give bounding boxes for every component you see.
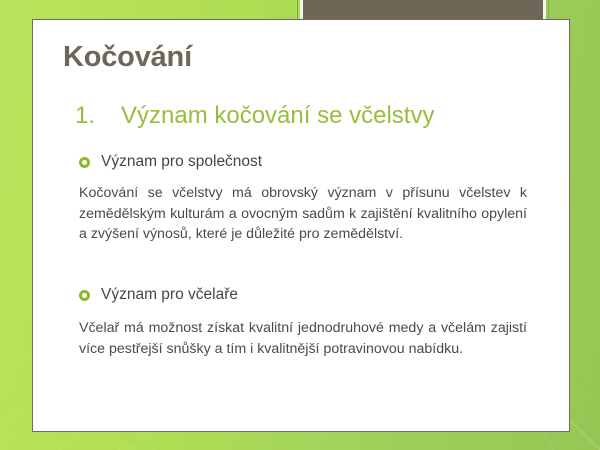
presentation-slide: Kočování 1.Význam kočování se včelstvy V… <box>0 0 600 450</box>
section-number: 1. <box>75 102 121 130</box>
body-paragraph: Včelař má možnost získat kvalitní jednod… <box>79 318 527 359</box>
list-item: Význam pro společnost <box>79 153 262 171</box>
ring-bullet-icon <box>79 290 90 301</box>
page-title: Kočování <box>63 41 192 74</box>
ring-bullet-icon <box>79 157 90 168</box>
section-heading-text: Význam kočování se včelstvy <box>121 102 434 129</box>
list-item: Význam pro včelaře <box>79 286 238 304</box>
section-heading: 1.Význam kočování se včelstvy <box>75 102 545 130</box>
bullet-label: Význam pro společnost <box>101 153 262 171</box>
bullet-label: Význam pro včelaře <box>101 286 238 304</box>
body-paragraph: Kočování se včelstvy má obrovský význam … <box>79 183 527 245</box>
slide-content-panel: Kočování 1.Význam kočování se včelstvy V… <box>32 19 570 432</box>
